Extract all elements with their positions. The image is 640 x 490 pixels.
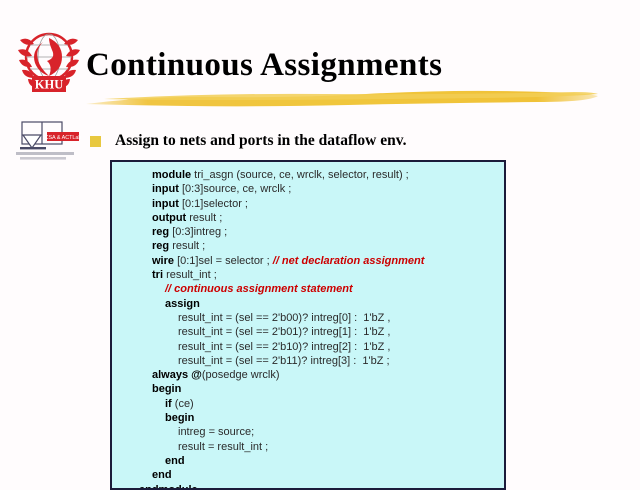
code-line: end [112,454,504,468]
code-line: input [0:1]selector ; [112,197,504,211]
code-text: result = result_int ; [178,441,268,453]
code-line: tri result_int ; [112,268,504,282]
code-text: result_int ; [166,269,217,281]
code-keyword: wire [152,255,177,267]
code-line: begin [112,382,504,396]
code-line: result = result_int ; [112,440,504,454]
code-line: assign [112,297,504,311]
code-text: result ; [189,212,222,224]
code-line: end [112,468,504,482]
code-keyword: input [152,198,182,210]
code-line: output result ; [112,211,504,225]
code-line: input [0:3]source, ce, wrclk ; [112,182,504,196]
code-keyword: end [165,455,185,467]
bullet-row: Assign to nets and ports in the dataflow… [90,132,407,150]
code-keyword: always @ [152,369,202,381]
code-keyword: endmodule [139,484,198,490]
code-line: result_int = (sel == 2'b01)? intreg[1] :… [112,325,504,339]
code-text: result_int = (sel == 2'b01)? intreg[1] :… [178,326,390,338]
code-comment: // net declaration assignment [273,255,425,267]
code-keyword: end [152,469,172,481]
code-text: [0:1]selector ; [182,198,248,210]
code-keyword: tri [152,269,166,281]
code-text: tri_asgn (source, ce, wrclk, selector, r… [194,169,409,181]
title-underline-swoosh [84,88,600,110]
code-text: result ; [172,240,205,252]
code-keyword: reg [152,240,172,252]
code-listing-box: module tri_asgn (source, ce, wrclk, sele… [110,160,506,490]
code-line: begin [112,411,504,425]
bullet-text: Assign to nets and ports in the dataflow… [115,132,407,150]
code-text: [0:1]sel = selector ; [177,255,273,267]
code-line: reg result ; [112,239,504,253]
code-line: result_int = (sel == 2'b11)? intreg[3] :… [112,354,504,368]
code-line: reg [0:3]intreg ; [112,225,504,239]
page-title: Continuous Assignments [86,46,606,84]
bullet-marker-icon [90,136,101,147]
code-keyword: module [152,169,194,181]
code-text: result_int = (sel == 2'b10)? intreg[2] :… [178,341,390,353]
code-text: (posedge wrclk) [202,369,280,381]
code-line: endmodule [112,483,504,490]
code-line: result_int = (sel == 2'b10)? intreg[2] :… [112,340,504,354]
code-comment: // continuous assignment statement [165,283,353,295]
code-line: result_int = (sel == 2'b00)? intreg[0] :… [112,311,504,325]
code-text: result_int = (sel == 2'b11)? intreg[3] :… [178,355,390,367]
code-keyword: if [165,398,175,410]
khu-crest-logo: KHU [16,26,82,94]
code-text: result_int = (sel == 2'b00)? intreg[0] :… [178,312,390,324]
code-keyword: begin [152,383,181,395]
code-line: wire [0:1]sel = selector ; // net declar… [112,254,504,268]
code-text: intreg = source; [178,426,254,438]
code-line: // continuous assignment statement [112,282,504,296]
code-text: [0:3]intreg ; [172,226,227,238]
code-keyword: assign [165,298,200,310]
code-text: (ce) [175,398,194,410]
code-line: module tri_asgn (source, ce, wrclk, sele… [112,168,504,182]
code-keyword: begin [165,412,194,424]
code-line: if (ce) [112,397,504,411]
svg-text:KHU: KHU [35,78,63,92]
code-text: [0:3]source, ce, wrclk ; [182,183,291,195]
code-line: always @(posedge wrclk) [112,368,504,382]
code-keyword: reg [152,226,172,238]
svg-text:CSA & ACTLab: CSA & ACTLab [45,135,82,141]
code-keyword: output [152,212,189,224]
code-keyword: input [152,183,182,195]
code-line: intreg = source; [112,425,504,439]
lab-logo: CSA & ACTLab [14,118,86,166]
slide-canvas: KHU CSA & ACTLab Continuous Assignments [0,0,640,480]
code-lines: module tri_asgn (source, ce, wrclk, sele… [112,162,504,490]
